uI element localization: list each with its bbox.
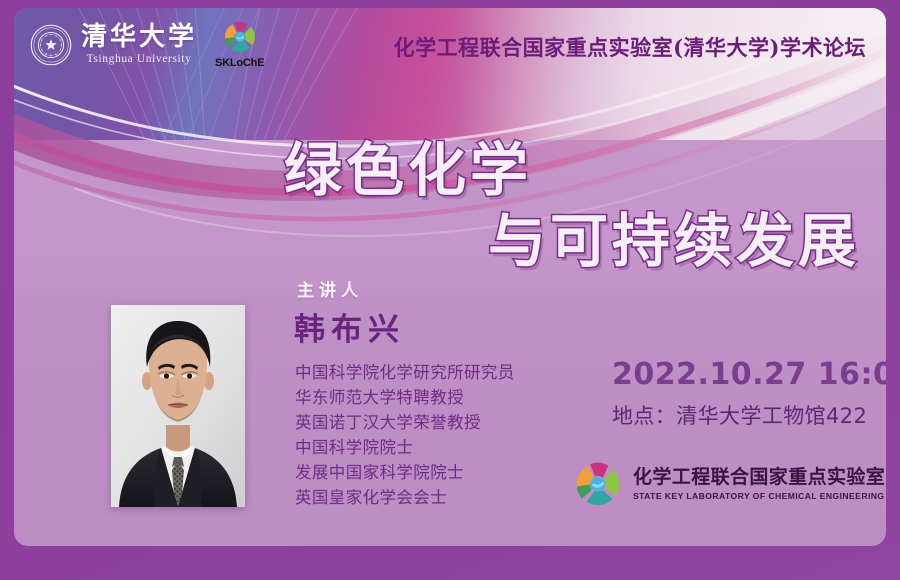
- lab-logo: 化学工程联合国家重点实验室 STATE KEY LABORATORY OF CH…: [574, 460, 885, 508]
- event-datetime: 2022.10.27 16:00: [612, 357, 886, 392]
- tsinghua-seal-icon: [30, 24, 72, 66]
- poster-title: 绿色化学 与可持续发展: [276, 140, 876, 272]
- lab-name-cn: 化学工程联合国家重点实验室: [633, 468, 885, 487]
- lab-name-en: STATE KEY LABORATORY OF CHEMICAL ENGINEE…: [633, 492, 885, 501]
- tsinghua-logo: 清华大学 Tsinghua University: [30, 24, 197, 66]
- title-line-2: 与可持续发展: [276, 211, 876, 272]
- speaker-portrait-image: [111, 305, 245, 507]
- lab-name-block: 化学工程联合国家重点实验室 STATE KEY LABORATORY OF CH…: [633, 468, 885, 501]
- speaker-portrait: [111, 305, 245, 507]
- credential-item: 发展中国家科学院院士: [295, 460, 515, 485]
- speaker-name: 韩布兴: [294, 304, 405, 349]
- skloche-logo: SKLoChE: [215, 20, 264, 69]
- tsinghua-name-block: 清华大学 Tsinghua University: [81, 24, 197, 66]
- header-right-fade: [456, 8, 886, 140]
- speaker-credentials: 中国科学院化学研究所研究员 华东师范大学特聘教授 英国诺丁汉大学荣誉教授 中国科…: [295, 360, 515, 510]
- skloche-ring-icon: [223, 20, 257, 54]
- event-venue: 地点：清华大学工物馆422: [612, 400, 867, 430]
- lab-ring-icon: [574, 460, 622, 508]
- tsinghua-name-cn: 清华大学: [81, 24, 197, 50]
- tsinghua-name-en: Tsinghua University: [87, 54, 192, 66]
- speaker-label: 主讲人: [297, 276, 363, 301]
- credential-item: 华东师范大学特聘教授: [295, 385, 515, 410]
- credential-item: 英国诺丁汉大学荣誉教授: [295, 410, 515, 435]
- credential-item: 中国科学院院士: [295, 435, 515, 460]
- title-line-1: 绿色化学: [276, 140, 876, 201]
- credential-item: 中国科学院化学研究所研究员: [295, 360, 515, 385]
- header-logo-row: 清华大学 Tsinghua University SK: [30, 20, 264, 69]
- poster-card: 清华大学 Tsinghua University SK: [14, 8, 886, 546]
- poster-root: 清华大学 Tsinghua University SK: [0, 0, 900, 580]
- forum-title: 化学工程联合国家重点实验室(清华大学)学术论坛: [394, 32, 866, 62]
- skloche-label: SKLoChE: [215, 57, 264, 69]
- credential-item: 英国皇家化学会会士: [295, 485, 515, 510]
